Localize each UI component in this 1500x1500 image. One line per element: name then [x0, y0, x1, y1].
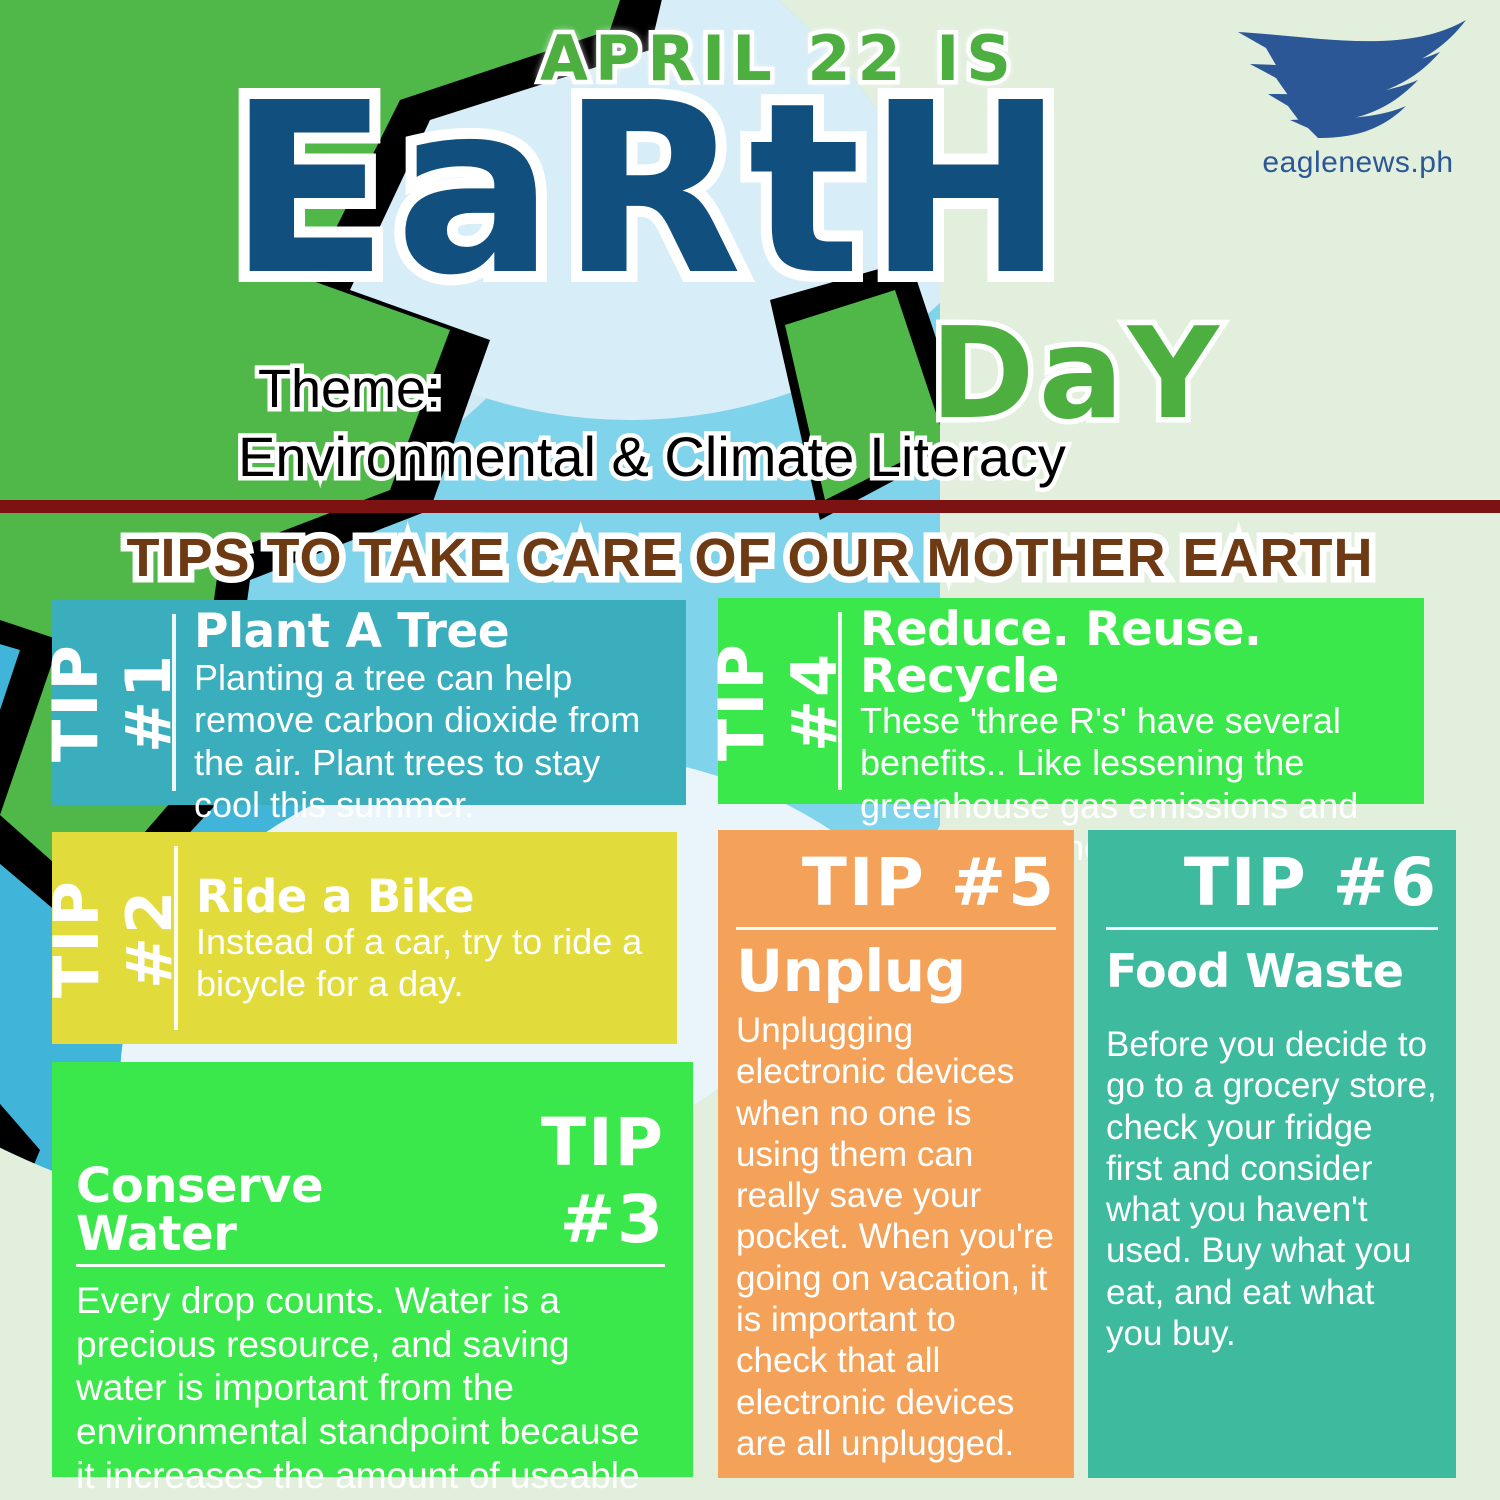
- tip-3-body: Every drop counts. Water is a precious r…: [76, 1279, 665, 1500]
- tips-grid: TIP #1 Plant A Tree Planting a tree can …: [0, 0, 1500, 1500]
- tip-3-divider: [76, 1264, 665, 1267]
- tip-1-number: TIP #1: [52, 600, 172, 805]
- tip-3-number: TIP #3: [444, 1104, 665, 1258]
- tip-4-number: TIP #4: [718, 598, 838, 804]
- tip-6-body: Before you decide to go to a grocery sto…: [1106, 1024, 1438, 1354]
- tip-5-divider: [736, 927, 1056, 930]
- tip-card-3[interactable]: Conserve Water TIP #3 Every drop counts.…: [52, 1062, 693, 1477]
- tip-6-divider: [1106, 927, 1438, 930]
- tip-1-title: Plant A Tree: [194, 608, 672, 655]
- tip-2-body: Instead of a car, try to ride a bicycle …: [196, 921, 663, 1006]
- tip-card-4[interactable]: TIP #4 Reduce. Reuse. Recycle These 'thr…: [718, 598, 1424, 804]
- tip-3-title: Conserve Water: [76, 1162, 444, 1258]
- earth-day-infographic: APRiL 22 iS EaRtH DaY Theme: Environment…: [0, 0, 1500, 1500]
- tip-2-number: TIP #2: [52, 832, 174, 1044]
- tip-card-6[interactable]: TIP #6 Food Waste Before you decide to g…: [1088, 830, 1456, 1478]
- tip-5-title: Unplug: [736, 942, 1056, 1000]
- tip-card-5[interactable]: TIP #5 Unplug Unplugging electronic devi…: [718, 830, 1074, 1478]
- tip-2-title: Ride a Bike: [196, 874, 663, 919]
- tip-4-title: Reduce. Reuse. Recycle: [860, 606, 1410, 700]
- tip-card-2[interactable]: TIP #2 Ride a Bike Instead of a car, try…: [52, 832, 677, 1044]
- tip-6-title: Food Waste: [1106, 948, 1438, 994]
- tip-5-number: TIP #5: [736, 844, 1056, 921]
- tip-6-number: TIP #6: [1106, 844, 1438, 921]
- tip-card-1[interactable]: TIP #1 Plant A Tree Planting a tree can …: [52, 600, 686, 805]
- tip-5-body: Unplugging electronic devices when no on…: [736, 1010, 1056, 1464]
- tip-1-body: Planting a tree can help remove carbon d…: [194, 657, 672, 827]
